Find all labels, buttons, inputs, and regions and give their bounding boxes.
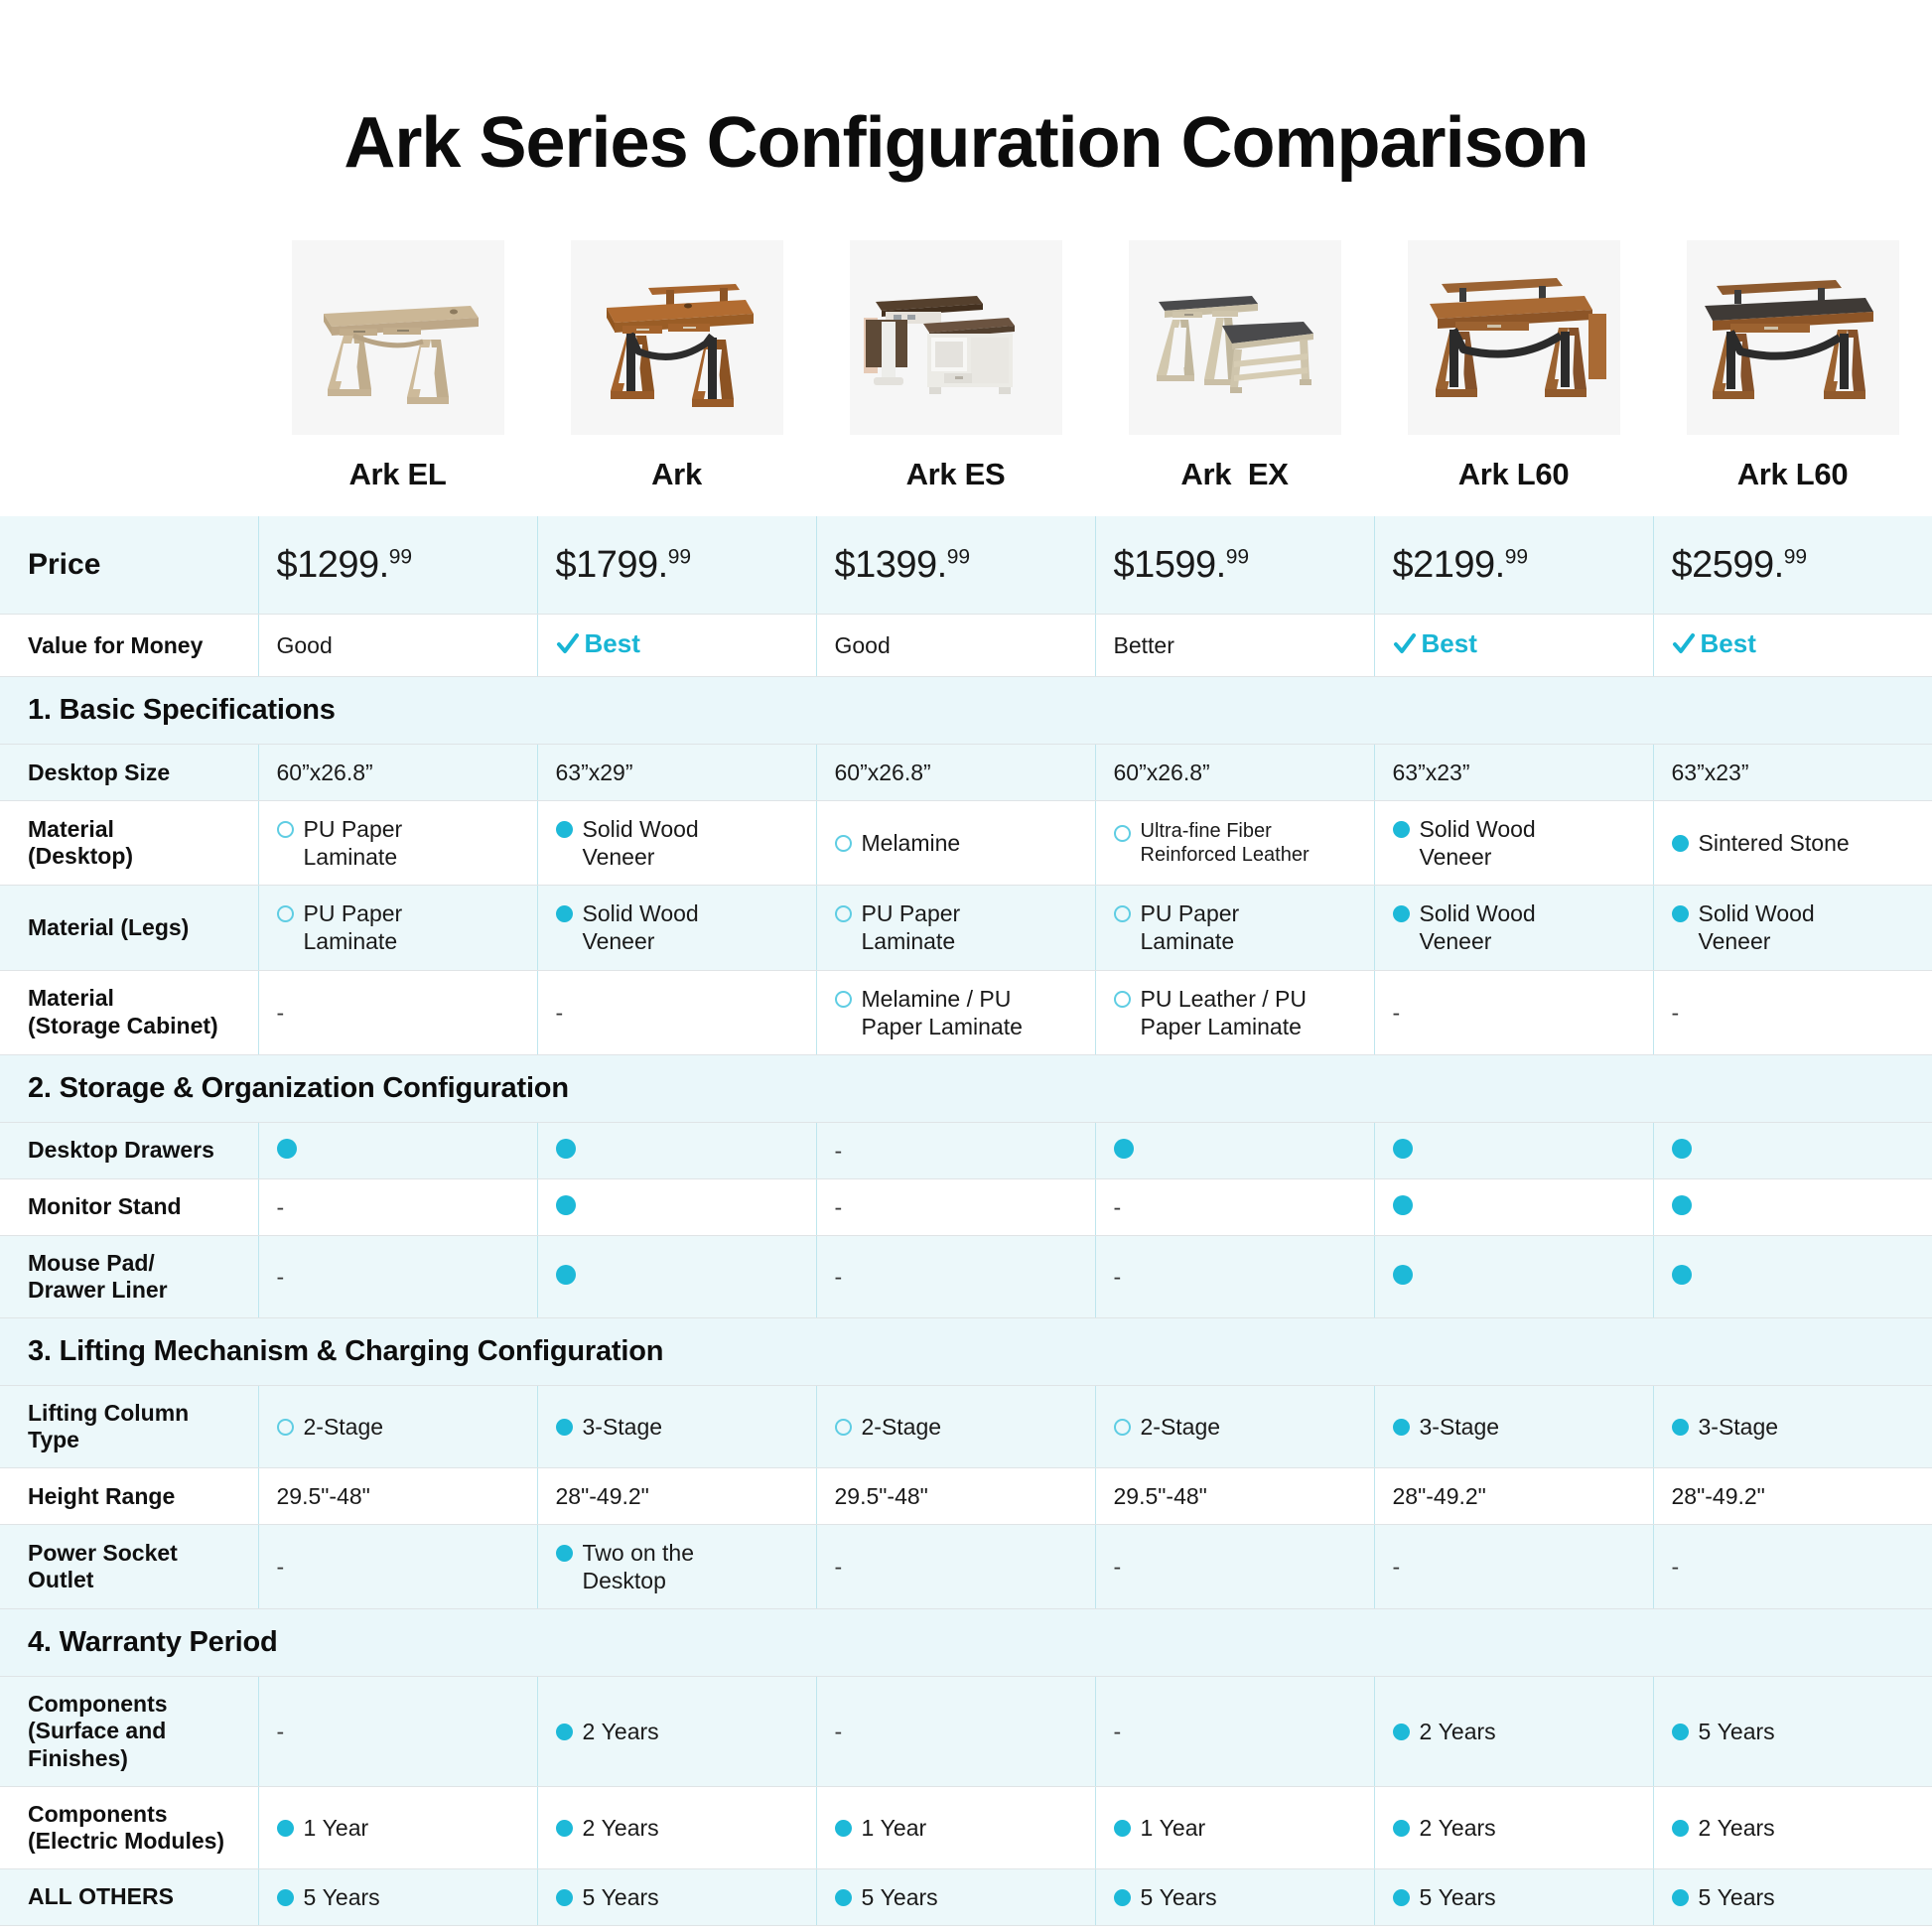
cell-4 (1374, 1122, 1653, 1178)
cell-text: Solid WoodVeneer (1699, 899, 1815, 955)
cell-3: Ultra-fine FiberReinforced Leather (1095, 801, 1374, 886)
cell-text: Solid WoodVeneer (1420, 899, 1536, 955)
cell-1: 28"-49.2" (537, 1468, 816, 1525)
row-label: Material(Desktop) (0, 801, 258, 886)
cell-2: - (816, 1525, 1095, 1609)
empty-dash: - (835, 1554, 843, 1580)
cell-0: 2-Stage (258, 1385, 537, 1467)
hollow-circle-icon (835, 991, 852, 1008)
filled-dot-icon (835, 1889, 852, 1906)
cell-1: Solid WoodVeneer (537, 801, 816, 886)
cell-0: - (258, 1235, 537, 1317)
product-label-3: Ark EX (1180, 457, 1288, 492)
cell-3: - (1095, 1178, 1374, 1235)
cell-4: - (1374, 970, 1653, 1054)
filled-dot-icon (1114, 1889, 1131, 1906)
best-badge: Best (1393, 628, 1477, 660)
best-badge: Best (556, 628, 640, 660)
empty-dash: - (1672, 1000, 1680, 1026)
table-row-price: Price$1299.99$1799.99$1399.99$1599.99$21… (0, 516, 1932, 615)
cell-0: 29.5"-48" (258, 1468, 537, 1525)
table-row: ALL OTHERS5 Years5 Years5 Years5 Years5 … (0, 1868, 1932, 1925)
cell-5: 2 Years (1653, 1786, 1932, 1868)
filled-dot-icon (556, 821, 573, 838)
cell-0 (258, 1122, 537, 1178)
filled-dot-icon (556, 1724, 573, 1740)
cell-4: 2 Years (1374, 1677, 1653, 1786)
cell-text: Sintered Stone (1699, 829, 1850, 857)
cell-text: 5 Years (1420, 1883, 1496, 1911)
cell-5: - (1653, 970, 1932, 1054)
cell-2: - (816, 1235, 1095, 1317)
cell-2: - (816, 1677, 1095, 1786)
cell-4: - (1374, 1525, 1653, 1609)
empty-dash: - (1114, 1719, 1122, 1744)
product-header-strip: Ark EL (0, 179, 1932, 492)
table-row-value-for-money: Value for MoneyGoodBestGoodBetterBestBes… (0, 615, 1932, 677)
hollow-circle-icon (1114, 825, 1131, 842)
value-for-money-cell-2: Good (816, 615, 1095, 677)
cell-1: 2 Years (537, 1786, 816, 1868)
filled-dot-icon (556, 1545, 573, 1562)
cell-0: 60”x26.8” (258, 745, 537, 801)
cell-2: 2-Stage (816, 1385, 1095, 1467)
row-label: Power SocketOutlet (0, 1525, 258, 1609)
cell-text: 60”x26.8” (835, 759, 931, 786)
filled-dot-icon (1672, 1265, 1692, 1285)
cell-text: PU PaperLaminate (862, 899, 961, 955)
hollow-circle-icon (277, 905, 294, 922)
table-row: Material(Storage Cabinet)--Melamine / PU… (0, 970, 1932, 1054)
price-cell-1: $1799.99 (537, 516, 816, 615)
hollow-circle-icon (1114, 905, 1131, 922)
cell-text: PU PaperLaminate (304, 815, 403, 871)
table-row: Height Range29.5"-48"28"-49.2"29.5"-48"2… (0, 1468, 1932, 1525)
section-title: 1. Basic Specifications (0, 677, 1932, 745)
cell-2: 1 Year (816, 1786, 1095, 1868)
row-label: Material (Legs) (0, 886, 258, 970)
table-row: Lifting ColumnType2-Stage3-Stage2-Stage2… (0, 1385, 1932, 1467)
value-for-money-cell-1: Best (537, 615, 816, 677)
cell-text: 2 Years (583, 1718, 659, 1745)
product-image-ark-ex (1129, 240, 1341, 435)
filled-dot-icon (277, 1139, 297, 1159)
cell-3 (1095, 1122, 1374, 1178)
cell-5: Sintered Stone (1653, 801, 1932, 886)
filled-dot-icon (1672, 835, 1689, 852)
row-label: Desktop Drawers (0, 1122, 258, 1178)
empty-dash: - (835, 1194, 843, 1220)
filled-dot-icon (1114, 1820, 1131, 1837)
filled-dot-icon (1672, 1139, 1692, 1159)
comparison-page: Ark Series Configuration Comparison (0, 0, 1932, 1932)
check-icon (1393, 632, 1417, 656)
filled-dot-icon (277, 1820, 294, 1837)
cell-3: - (1095, 1235, 1374, 1317)
cell-4 (1374, 1178, 1653, 1235)
value-for-money-cell-0: Good (258, 615, 537, 677)
cell-3: 60”x26.8” (1095, 745, 1374, 801)
table-row: Power SocketOutlet-Two on theDesktop---- (0, 1525, 1932, 1609)
filled-dot-icon (1393, 1889, 1410, 1906)
value-for-money-cell-5: Best (1653, 615, 1932, 677)
filled-dot-icon (556, 1139, 576, 1159)
cell-text: 1 Year (304, 1814, 369, 1842)
cell-text: 2 Years (583, 1814, 659, 1842)
cell-0: 1 Year (258, 1786, 537, 1868)
row-label: Desktop Size (0, 745, 258, 801)
row-label: Components(Electric Modules) (0, 1786, 258, 1868)
cell-text: 28"-49.2" (1672, 1482, 1765, 1510)
empty-dash: - (835, 1138, 843, 1164)
row-label: Lifting ColumnType (0, 1385, 258, 1467)
cell-text: Melamine / PUPaper Laminate (862, 985, 1023, 1040)
filled-dot-icon (1672, 1724, 1689, 1740)
cell-2: 29.5"-48" (816, 1468, 1095, 1525)
cell-text: 3-Stage (1699, 1413, 1779, 1441)
empty-dash: - (277, 1554, 285, 1580)
filled-dot-icon (1672, 1419, 1689, 1436)
cell-text: 5 Years (304, 1883, 380, 1911)
product-image-ark-l60-a (1408, 240, 1620, 435)
empty-dash: - (1672, 1554, 1680, 1580)
cell-1: Two on theDesktop (537, 1525, 816, 1609)
cell-text: 63”x23” (1393, 759, 1470, 786)
product-column-4[interactable]: Ark L60 (1374, 240, 1653, 492)
cell-5: 63”x23” (1653, 745, 1932, 801)
table-row: Desktop Drawers- (0, 1122, 1932, 1178)
filled-dot-icon (1393, 1265, 1413, 1285)
cell-4: 2 Years (1374, 1786, 1653, 1868)
cell-2: Melamine / PUPaper Laminate (816, 970, 1095, 1054)
cell-5 (1653, 1122, 1932, 1178)
cell-0: - (258, 1178, 537, 1235)
cell-5: Solid WoodVeneer (1653, 886, 1932, 970)
cell-text: 2-Stage (862, 1413, 942, 1441)
cell-text: 2-Stage (304, 1413, 384, 1441)
section-header-0: 1. Basic Specifications (0, 677, 1932, 745)
cell-5 (1653, 1235, 1932, 1317)
filled-dot-icon (1114, 1139, 1134, 1159)
cell-text: 5 Years (1699, 1883, 1775, 1911)
cell-0: - (258, 970, 537, 1054)
product-column-2[interactable]: Ark ES (816, 240, 1095, 492)
cell-5: 3-Stage (1653, 1385, 1932, 1467)
cell-2: 5 Years (816, 1868, 1095, 1925)
cell-4: 3-Stage (1374, 1385, 1653, 1467)
cell-3: 29.5"-48" (1095, 1468, 1374, 1525)
empty-dash: - (277, 1000, 285, 1026)
cell-text: 1 Year (1141, 1814, 1206, 1842)
cell-text: PU PaperLaminate (1141, 899, 1240, 955)
row-label-price: Price (0, 516, 258, 615)
cell-5: 5 Years (1653, 1868, 1932, 1925)
empty-dash: - (277, 1194, 285, 1220)
cell-text: 29.5"-48" (835, 1482, 928, 1510)
cell-text: 5 Years (1699, 1718, 1775, 1745)
cell-1: 5 Years (537, 1868, 816, 1925)
hollow-circle-icon (1114, 1419, 1131, 1436)
filled-dot-icon (1672, 905, 1689, 922)
cell-1: - (537, 970, 816, 1054)
filled-dot-icon (1672, 1820, 1689, 1837)
cell-5: 5 Years (1653, 1677, 1932, 1786)
hollow-circle-icon (277, 821, 294, 838)
price-cell-4: $2199.99 (1374, 516, 1653, 615)
cell-text: 5 Years (583, 1883, 659, 1911)
hollow-circle-icon (835, 905, 852, 922)
product-column-3[interactable]: Ark EX (1095, 240, 1374, 492)
table-row: Monitor Stand--- (0, 1178, 1932, 1235)
cell-3: 2-Stage (1095, 1385, 1374, 1467)
filled-dot-icon (556, 1820, 573, 1837)
cell-text: 29.5"-48" (277, 1482, 370, 1510)
cell-text: 60”x26.8” (1114, 759, 1210, 786)
cell-text: 63”x23” (1672, 759, 1749, 786)
cell-text: 3-Stage (583, 1413, 663, 1441)
cell-4: 5 Years (1374, 1868, 1653, 1925)
empty-dash: - (1114, 1554, 1122, 1580)
table-row: Desktop Size60”x26.8”63”x29”60”x26.8”60”… (0, 745, 1932, 801)
filled-dot-icon (1393, 1419, 1410, 1436)
row-label: Material(Storage Cabinet) (0, 970, 258, 1054)
cell-4 (1374, 1235, 1653, 1317)
cell-text: Solid WoodVeneer (1420, 815, 1536, 871)
hollow-circle-icon (277, 1419, 294, 1436)
filled-dot-icon (556, 1265, 576, 1285)
cell-5: - (1653, 1525, 1932, 1609)
product-label-2: Ark ES (906, 457, 1006, 492)
cell-text: 63”x29” (556, 759, 633, 786)
cell-1 (537, 1178, 816, 1235)
cell-2: 60”x26.8” (816, 745, 1095, 801)
cell-2: PU PaperLaminate (816, 886, 1095, 970)
cell-text: 28"-49.2" (1393, 1482, 1486, 1510)
cell-1: 3-Stage (537, 1385, 816, 1467)
product-image-ark-l60-b (1687, 240, 1899, 435)
product-label-0: Ark EL (348, 457, 446, 492)
filled-dot-icon (556, 905, 573, 922)
section-title: 4. Warranty Period (0, 1609, 1932, 1677)
product-label-4: Ark L60 (1458, 457, 1570, 492)
cell-1: Solid WoodVeneer (537, 886, 816, 970)
cell-4: 28"-49.2" (1374, 1468, 1653, 1525)
filled-dot-icon (1672, 1195, 1692, 1215)
product-image-ark-el (292, 240, 504, 435)
cell-2: - (816, 1178, 1095, 1235)
table-row: Components(Surface andFinishes)-2 Years-… (0, 1677, 1932, 1786)
hollow-circle-icon (835, 1419, 852, 1436)
cell-5 (1653, 1178, 1932, 1235)
empty-dash: - (1114, 1194, 1122, 1220)
price-cell-3: $1599.99 (1095, 516, 1374, 615)
value-for-money-cell-4: Best (1374, 615, 1653, 677)
cell-1: 2 Years (537, 1677, 816, 1786)
cell-0: - (258, 1677, 537, 1786)
value-for-money-cell-3: Better (1095, 615, 1374, 677)
filled-dot-icon (1393, 905, 1410, 922)
empty-dash: - (1393, 1554, 1401, 1580)
cell-3: 1 Year (1095, 1786, 1374, 1868)
product-column-5[interactable]: Ark L60 (1653, 240, 1932, 492)
section-title: 2. Storage & Organization Configuration (0, 1054, 1932, 1122)
empty-dash: - (277, 1264, 285, 1290)
hollow-circle-icon (835, 835, 852, 852)
cell-0: 5 Years (258, 1868, 537, 1925)
section-title: 3. Lifting Mechanism & Charging Configur… (0, 1317, 1932, 1385)
cell-5: 28"-49.2" (1653, 1468, 1932, 1525)
check-icon (556, 632, 580, 656)
filled-dot-icon (1393, 1139, 1413, 1159)
product-label-1: Ark (651, 457, 702, 492)
hollow-circle-icon (1114, 991, 1131, 1008)
filled-dot-icon (835, 1820, 852, 1837)
empty-dash: - (277, 1719, 285, 1744)
price-cell-5: $2599.99 (1653, 516, 1932, 615)
cell-4: Solid WoodVeneer (1374, 886, 1653, 970)
cell-0: - (258, 1525, 537, 1609)
cell-1 (537, 1122, 816, 1178)
table-body: Price$1299.99$1799.99$1399.99$1599.99$21… (0, 516, 1932, 1926)
header-spacer (0, 240, 258, 492)
cell-0: PU PaperLaminate (258, 801, 537, 886)
table-row: Mouse Pad/Drawer Liner--- (0, 1235, 1932, 1317)
cell-text: 2 Years (1699, 1814, 1775, 1842)
price-cell-2: $1399.99 (816, 516, 1095, 615)
cell-4: 63”x23” (1374, 745, 1653, 801)
filled-dot-icon (556, 1419, 573, 1436)
empty-dash: - (835, 1264, 843, 1290)
cell-text: Solid WoodVeneer (583, 815, 699, 871)
table-row: Material (Legs)PU PaperLaminateSolid Woo… (0, 886, 1932, 970)
row-label: Components(Surface andFinishes) (0, 1677, 258, 1786)
row-label: Monitor Stand (0, 1178, 258, 1235)
section-header-2: 3. Lifting Mechanism & Charging Configur… (0, 1317, 1932, 1385)
cell-text: 5 Years (1141, 1883, 1217, 1911)
cell-text: 2 Years (1420, 1814, 1496, 1842)
cell-text: PU PaperLaminate (304, 899, 403, 955)
product-label-5: Ark L60 (1737, 457, 1849, 492)
product-image-ark (571, 240, 783, 435)
filled-dot-icon (1393, 1724, 1410, 1740)
cell-1: 63”x29” (537, 745, 816, 801)
cell-text: 3-Stage (1420, 1413, 1500, 1441)
cell-text: Melamine (862, 829, 961, 857)
empty-dash: - (1393, 1000, 1401, 1026)
cell-text: 5 Years (862, 1883, 938, 1911)
product-image-ark-es (850, 240, 1062, 435)
product-column-0[interactable]: Ark EL (258, 240, 537, 492)
row-label: Mouse Pad/Drawer Liner (0, 1235, 258, 1317)
cell-text: 29.5"-48" (1114, 1482, 1207, 1510)
cell-text: Two on theDesktop (583, 1539, 695, 1594)
table-row: Material(Desktop)PU PaperLaminateSolid W… (0, 801, 1932, 886)
cell-3: PU Leather / PUPaper Laminate (1095, 970, 1374, 1054)
comparison-table: Price$1299.99$1799.99$1399.99$1599.99$21… (0, 516, 1932, 1926)
cell-2: - (816, 1122, 1095, 1178)
cell-3: - (1095, 1525, 1374, 1609)
page-title: Ark Series Configuration Comparison (0, 0, 1932, 179)
filled-dot-icon (1393, 821, 1410, 838)
cell-2: Melamine (816, 801, 1095, 886)
empty-dash: - (835, 1719, 843, 1744)
cell-3: PU PaperLaminate (1095, 886, 1374, 970)
cell-text: 2 Years (1420, 1718, 1496, 1745)
filled-dot-icon (556, 1195, 576, 1215)
cell-text: 1 Year (862, 1814, 927, 1842)
filled-dot-icon (1393, 1195, 1413, 1215)
cell-0: PU PaperLaminate (258, 886, 537, 970)
empty-dash: - (1114, 1264, 1122, 1290)
cell-text: Solid WoodVeneer (583, 899, 699, 955)
filled-dot-icon (277, 1889, 294, 1906)
row-label: ALL OTHERS (0, 1868, 258, 1925)
filled-dot-icon (556, 1889, 573, 1906)
cell-text: 28"-49.2" (556, 1482, 649, 1510)
price-cell-0: $1299.99 (258, 516, 537, 615)
filled-dot-icon (1393, 1820, 1410, 1837)
cell-3: 5 Years (1095, 1868, 1374, 1925)
filled-dot-icon (1672, 1889, 1689, 1906)
product-column-1[interactable]: Ark (537, 240, 816, 492)
row-label-value-for-money: Value for Money (0, 615, 258, 677)
cell-text: Ultra-fine FiberReinforced Leather (1141, 819, 1310, 868)
cell-3: - (1095, 1677, 1374, 1786)
cell-text: 2-Stage (1141, 1413, 1221, 1441)
section-header-1: 2. Storage & Organization Configuration (0, 1054, 1932, 1122)
cell-text: 60”x26.8” (277, 759, 373, 786)
cell-1 (537, 1235, 816, 1317)
cell-text: PU Leather / PUPaper Laminate (1141, 985, 1307, 1040)
row-label: Height Range (0, 1468, 258, 1525)
cell-4: Solid WoodVeneer (1374, 801, 1653, 886)
section-header-3: 4. Warranty Period (0, 1609, 1932, 1677)
table-row: Components(Electric Modules)1 Year2 Year… (0, 1786, 1932, 1868)
check-icon (1672, 632, 1696, 656)
best-badge: Best (1672, 628, 1756, 660)
empty-dash: - (556, 1000, 564, 1026)
